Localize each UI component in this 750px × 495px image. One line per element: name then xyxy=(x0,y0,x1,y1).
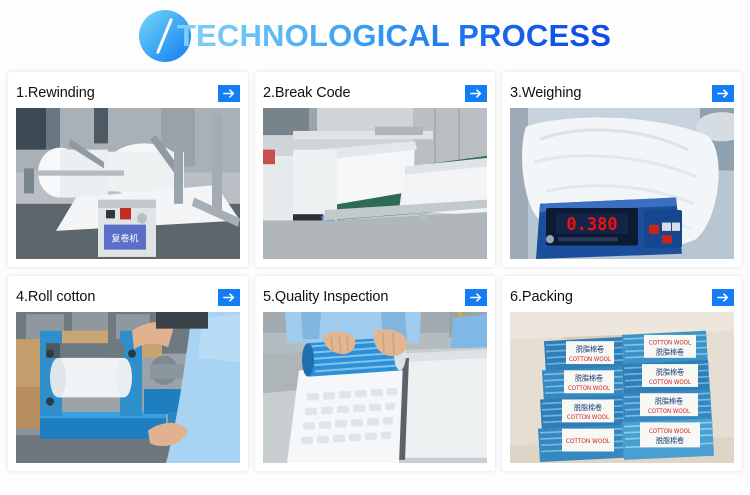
svg-text:COTTON WOOL: COTTON WOOL xyxy=(649,380,692,386)
card-header: 2.Break Code xyxy=(263,78,487,108)
svg-text:COTTON WOOL: COTTON WOOL xyxy=(648,409,691,415)
step-photo xyxy=(263,312,487,463)
card-header: 3.Weighing xyxy=(510,78,734,108)
svg-text:COTTON WOOL: COTTON WOOL xyxy=(566,439,611,445)
process-step-card[interactable]: 5.Quality Inspection xyxy=(255,276,495,471)
step-label: 4.Roll cotton xyxy=(16,289,95,305)
step-photo xyxy=(16,312,240,463)
step-photo: 复卷机 xyxy=(16,108,240,259)
svg-text:脱脂棉卷: 脱脂棉卷 xyxy=(656,367,684,376)
step-label: 1.Rewinding xyxy=(16,85,95,101)
step-label: 3.Weighing xyxy=(510,85,581,101)
svg-text:脱脂棉卷: 脱脂棉卷 xyxy=(656,348,684,357)
step-photo xyxy=(263,108,487,259)
step-photo: 0.380 xyxy=(510,108,734,259)
svg-text:脱脂棉卷: 脱脂棉卷 xyxy=(576,344,604,353)
card-header: 6.Packing xyxy=(510,282,734,312)
process-step-card[interactable]: 1.Rewinding xyxy=(8,72,248,267)
step-label: 2.Break Code xyxy=(263,85,350,101)
process-step-card[interactable]: 3.Weighing xyxy=(502,72,742,267)
svg-text:COTTON WOOL: COTTON WOOL xyxy=(568,386,611,392)
card-header: 1.Rewinding xyxy=(16,78,240,108)
svg-text:脱脂棉卷: 脱脂棉卷 xyxy=(575,374,603,383)
step-label: 6.Packing xyxy=(510,289,573,305)
process-step-card[interactable]: 2.Break Code xyxy=(255,72,495,267)
svg-text:COTTON WOOL: COTTON WOOL xyxy=(567,415,610,421)
card-header: 4.Roll cotton xyxy=(16,282,240,312)
svg-text:COTTON WOOL: COTTON WOOL xyxy=(649,429,692,435)
svg-text:0.380: 0.380 xyxy=(566,215,617,235)
process-step-card[interactable]: 6.Packing xyxy=(502,276,742,471)
svg-text:复卷机: 复卷机 xyxy=(112,232,139,244)
svg-text:脱脂棉卷: 脱脂棉卷 xyxy=(574,403,602,412)
arrow-right-icon[interactable] xyxy=(465,85,487,102)
arrow-right-icon[interactable] xyxy=(218,85,240,102)
svg-text:COTTON WOOL: COTTON WOOL xyxy=(569,357,612,363)
arrow-right-icon[interactable] xyxy=(712,85,734,102)
process-step-card[interactable]: 4.Roll cotton xyxy=(8,276,248,471)
arrow-right-icon[interactable] xyxy=(218,289,240,306)
slash-mark xyxy=(156,18,173,54)
process-steps-grid: 1.Rewinding xyxy=(0,72,750,471)
arrow-right-icon[interactable] xyxy=(712,289,734,306)
arrow-right-icon[interactable] xyxy=(465,289,487,306)
svg-text:COTTON WOOL: COTTON WOOL xyxy=(649,340,692,346)
svg-text:脱脂棉卷: 脱脂棉卷 xyxy=(656,436,684,445)
svg-text:脱脂棉卷: 脱脂棉卷 xyxy=(655,397,683,406)
brand-title-wrap: TECHNOLOGICAL PROCESS xyxy=(139,8,611,64)
card-header: 5.Quality Inspection xyxy=(263,282,487,312)
page-title: TECHNOLOGICAL PROCESS xyxy=(177,10,611,62)
page-header: TECHNOLOGICAL PROCESS xyxy=(0,0,750,72)
step-label: 5.Quality Inspection xyxy=(263,289,388,305)
step-photo: 脱脂棉卷 COTTON WOOL 脱脂棉卷 COTTON WOOL xyxy=(510,312,734,463)
